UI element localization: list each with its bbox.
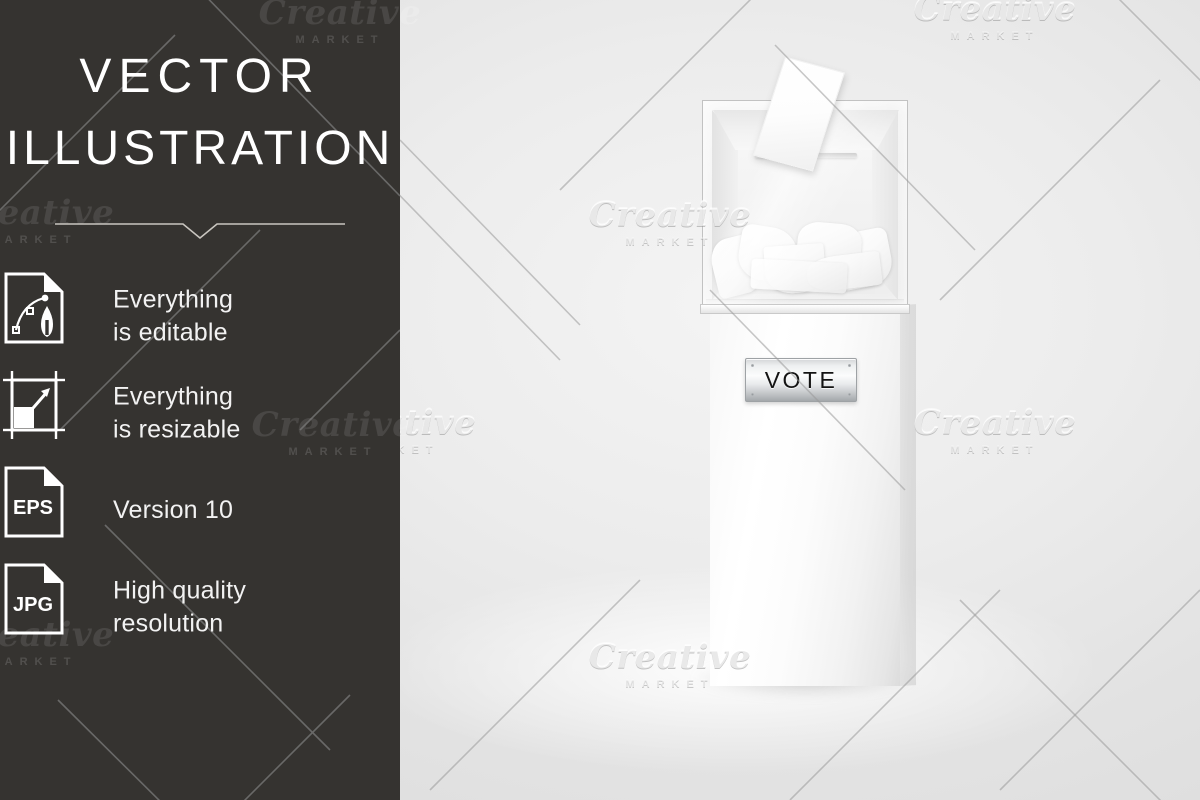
feature-label: High quality resolution (113, 574, 246, 642)
feature-item-editable: Everything is editable (0, 268, 400, 365)
eps-file-icon: EPS (0, 464, 70, 540)
ballot-box-bottom-rim (700, 304, 910, 314)
feature-label: Everything is editable (113, 283, 233, 351)
title-line-2: ILLUSTRATION (0, 124, 400, 174)
left-info-panel: Creative MARKET Creative MARKET Creative… (0, 0, 400, 800)
eps-icon-label: EPS (13, 497, 53, 519)
ballot-pile (711, 211, 901, 297)
page-title: VECTOR ILLUSTRATION (0, 52, 400, 175)
vote-plaque: VOTE (745, 358, 857, 402)
document-pen-tool-icon (0, 270, 70, 346)
vote-plaque-label: VOTE (765, 367, 838, 394)
jpg-file-icon: JPG (0, 561, 70, 637)
pedestal-side-face (900, 304, 916, 686)
screw-icon (751, 364, 754, 367)
feature-label: Everything is resizable (113, 380, 240, 448)
screw-icon (751, 393, 754, 396)
feature-list: Everything is editable Everything (0, 268, 400, 656)
title-line-1: VECTOR (0, 52, 400, 102)
jpg-icon-label: JPG (13, 594, 53, 616)
feature-item-eps: EPS Version 10 (0, 462, 400, 559)
feature-item-resizable: Everything is resizable (0, 365, 400, 462)
feature-item-jpg: JPG High quality resolution (0, 559, 400, 656)
divider-with-chevron (55, 218, 345, 240)
screw-icon (848, 393, 851, 396)
illustration-preview: VOTE (0, 0, 1200, 800)
screw-icon (848, 364, 851, 367)
resize-arrow-icon (0, 367, 70, 443)
ballot-paper (750, 259, 847, 294)
feature-label: Version 10 (113, 494, 233, 528)
